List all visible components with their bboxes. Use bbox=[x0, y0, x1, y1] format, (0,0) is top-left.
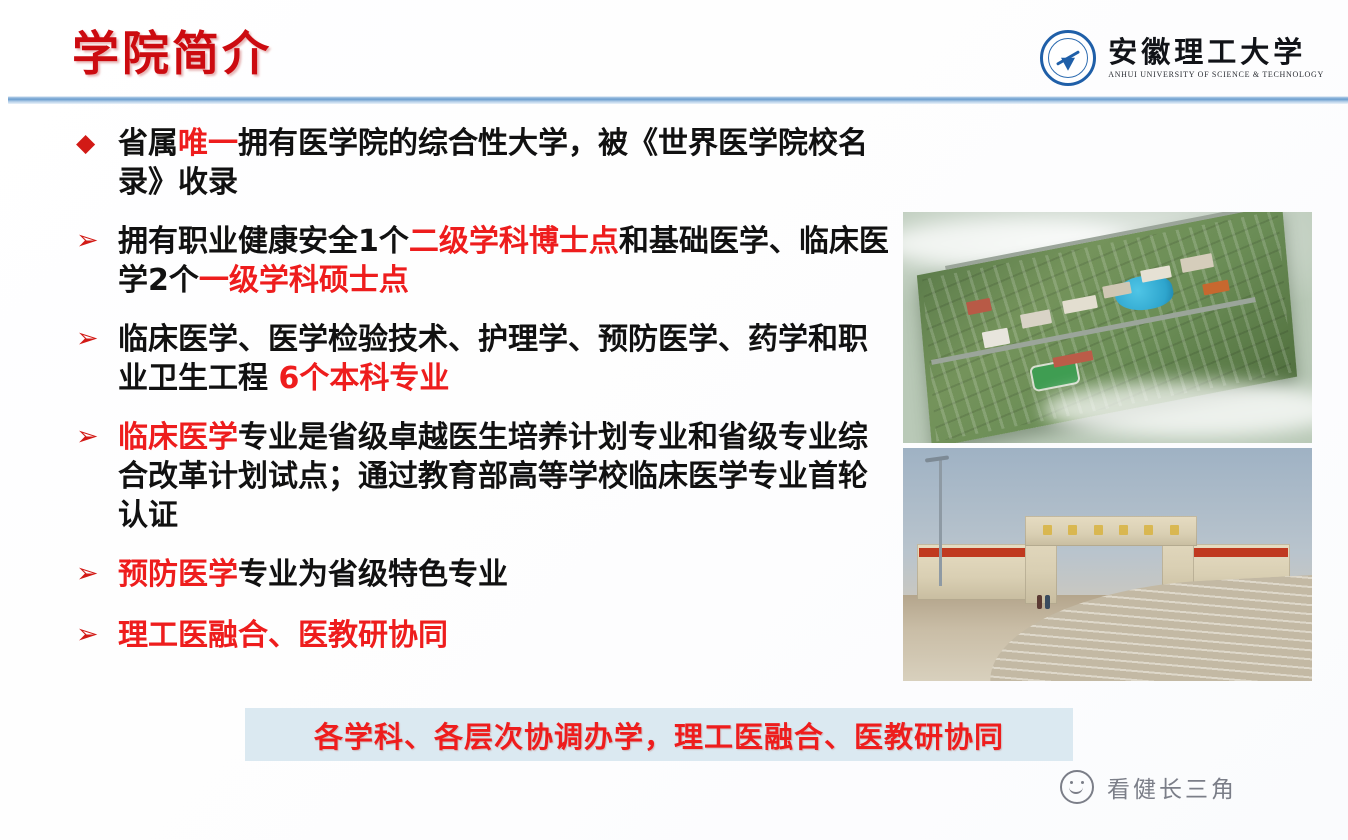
university-logo: 安徽理工大学 ANHUI UNIVERSITY OF SCIENCE & TEC… bbox=[1040, 30, 1324, 86]
source-watermark: 看健长三角 bbox=[1060, 770, 1237, 804]
header-divider-rule bbox=[8, 96, 1348, 104]
arrow-bullet-icon: ➢ bbox=[76, 617, 99, 652]
arrow-bullet-icon: ➢ bbox=[76, 556, 99, 591]
smiley-right-eye bbox=[1081, 781, 1084, 784]
bullet-item-2: ➢拥有职业健康安全1个二级学科博士点和基础医学、临床医学2个一级学科硕士点 bbox=[72, 222, 892, 300]
slide-header: 学院简介 安徽理工大学 ANHUI UNIVERSITY OF SCIENCE … bbox=[0, 0, 1348, 104]
gate-name-characters bbox=[1035, 522, 1187, 538]
seal-flask-shape bbox=[1061, 58, 1075, 71]
smiley-face-icon bbox=[1060, 770, 1094, 804]
arrow-bullet-icon: ➢ bbox=[76, 321, 99, 356]
smiley-mouth bbox=[1069, 785, 1083, 794]
bullet-3-segment-1: 临床医学、医学检验技术、护理学、预防医学、药学和职业卫生工程 bbox=[118, 322, 868, 396]
logo-chinese-name: 安徽理工大学 bbox=[1108, 37, 1306, 67]
logo-english-name: ANHUI UNIVERSITY OF SCIENCE & TECHNOLOGY bbox=[1108, 70, 1324, 79]
arrow-bullet-icon: ➢ bbox=[76, 223, 99, 258]
bullet-5-segment-2: 专业为省级特色专业 bbox=[238, 557, 508, 592]
bullet-3-segment-2: 6个本科专业 bbox=[278, 361, 449, 396]
bullet-6-segment-1: 理工医融合、医教研协同 bbox=[118, 618, 448, 653]
bullet-item-1: ◆省属唯一拥有医学院的综合性大学，被《世界医学院校名录》收录 bbox=[72, 124, 892, 202]
pedestrian bbox=[1045, 595, 1050, 609]
watermark-label: 看健长三角 bbox=[1107, 770, 1237, 804]
summary-highlight-banner: 各学科、各层次协调办学，理工医融合、医教研协同 bbox=[245, 708, 1073, 761]
slide-root: 学院简介 安徽理工大学 ANHUI UNIVERSITY OF SCIENCE … bbox=[0, 0, 1348, 840]
smiley-left-eye bbox=[1070, 781, 1073, 784]
bullet-2-segment-1: 拥有职业健康安全1个 bbox=[118, 224, 409, 259]
campus-aerial-rendering bbox=[903, 212, 1312, 443]
bullet-list: ◆省属唯一拥有医学院的综合性大学，被《世界医学院校名录》收录➢拥有职业健康安全1… bbox=[72, 124, 892, 671]
arrow-bullet-icon: ➢ bbox=[76, 419, 99, 454]
pedestrian bbox=[1037, 595, 1042, 609]
bullet-2-segment-4: 一级学科硕士点 bbox=[199, 263, 409, 298]
bullet-1-segment-2: 唯一 bbox=[178, 126, 238, 161]
bullet-item-3: ➢临床医学、医学检验技术、护理学、预防医学、药学和职业卫生工程 6个本科专业 bbox=[72, 320, 892, 398]
bullet-4-segment-1: 临床医学 bbox=[118, 420, 238, 455]
summary-highlight-text: 各学科、各层次协调办学，理工医融合、医教研协同 bbox=[314, 714, 1004, 756]
bullet-item-6: ➢理工医融合、医教研协同 bbox=[72, 616, 892, 655]
diamond-bullet-icon: ◆ bbox=[76, 127, 95, 160]
seal-pick-shape bbox=[1056, 50, 1080, 66]
anhui-ust-seal-icon bbox=[1040, 30, 1096, 86]
bullet-item-4: ➢临床医学专业是省级卓越医生培养计划专业和省级专业综合改革计划试点；通过教育部高… bbox=[72, 418, 892, 535]
bullet-2-segment-2: 二级学科博士点 bbox=[409, 224, 619, 259]
logo-wordmark: 安徽理工大学 ANHUI UNIVERSITY OF SCIENCE & TEC… bbox=[1108, 37, 1324, 79]
street-lamp-pole bbox=[939, 458, 942, 586]
gate-left-red-band bbox=[919, 548, 1031, 557]
bullet-1-segment-1: 省属 bbox=[118, 126, 178, 161]
page-title: 学院简介 bbox=[72, 27, 272, 83]
bullet-5-segment-1: 预防医学 bbox=[118, 557, 238, 592]
campus-main-gate-photo bbox=[903, 448, 1312, 681]
bullet-item-5: ➢预防医学专业为省级特色专业 bbox=[72, 555, 892, 594]
